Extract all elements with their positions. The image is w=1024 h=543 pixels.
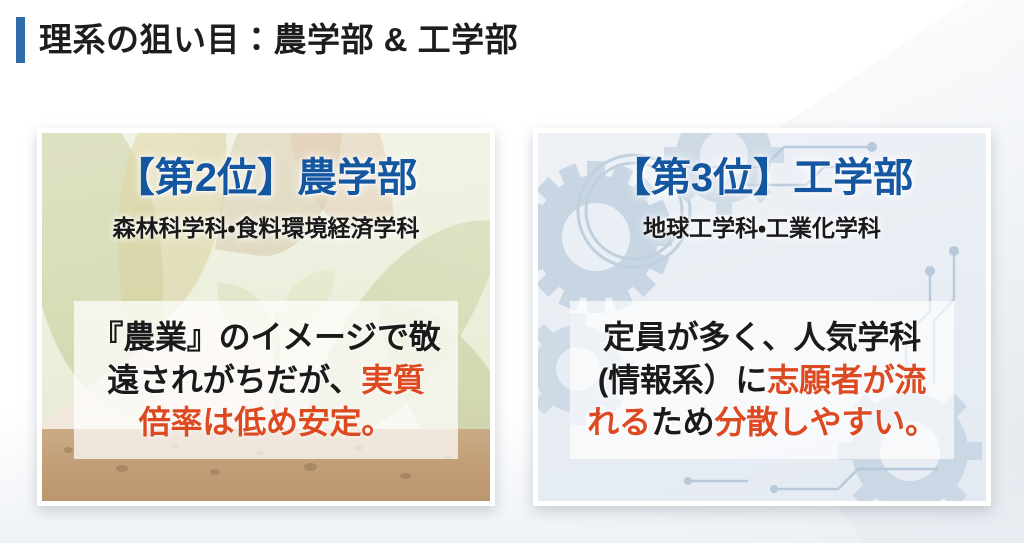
- card-rank-label: 【第2位】農学部: [42, 155, 490, 201]
- card-agriculture-body-panel: 『農業』のイメージで敬遠されがちだが、実質倍率は低め安定。: [74, 301, 458, 459]
- card-body-line: 『農業』のイメージで敬: [91, 316, 440, 359]
- slide-title: 理系の狙い目：農学部 & 工学部: [16, 14, 536, 66]
- plain-text: (情報系）に: [598, 362, 767, 398]
- card-body-line: 定員が多く、人気学科: [587, 316, 937, 359]
- card-agriculture[interactable]: 【第2位】農学部 森林科学科・食料環境経済学科 『農業』のイメージで敬遠されがち…: [37, 128, 495, 506]
- card-subtitle: 地球工学科・工業化学科: [538, 209, 986, 243]
- card-body-line: 倍率は低め安定。: [91, 401, 440, 444]
- plain-text: ため: [651, 404, 715, 440]
- slide-root: 理系の狙い目：農学部 & 工学部: [0, 0, 1024, 543]
- emphasis-text: 実質: [361, 362, 425, 398]
- emphasis-text: 分散しやすい。: [714, 404, 936, 440]
- plain-text: 『農業』のイメージで敬: [91, 319, 440, 355]
- emphasis-text: 志願者が流: [767, 362, 926, 398]
- card-body-text: 『農業』のイメージで敬遠されがちだが、実質倍率は低め安定。: [87, 316, 444, 444]
- card-body-text: 定員が多く、人気学科(情報系）に志願者が流れるため分散しやすい。: [583, 316, 941, 444]
- plain-text: 定員が多く、人気学科: [603, 319, 921, 355]
- plain-text: 遠されがちだが、: [107, 362, 361, 398]
- card-agriculture-inner: 【第2位】農学部 森林科学科・食料環境経済学科 『農業』のイメージで敬遠されがち…: [42, 133, 490, 501]
- card-body-line: (情報系）に志願者が流: [587, 359, 937, 402]
- card-subtitle: 森林科学科・食料環境経済学科: [42, 209, 490, 243]
- card-engineering[interactable]: 【第3位】工学部 地球工学科・工業化学科 定員が多く、人気学科(情報系）に志願者…: [533, 128, 991, 506]
- card-body-line: れるため分散しやすい。: [587, 401, 937, 444]
- card-body-line: 遠されがちだが、実質: [91, 359, 440, 402]
- card-engineering-body-panel: 定員が多く、人気学科(情報系）に志願者が流れるため分散しやすい。: [570, 301, 954, 459]
- cards-row: 【第2位】農学部 森林科学科・食料環境経済学科 『農業』のイメージで敬遠されがち…: [0, 128, 1024, 513]
- card-agriculture-heading: 【第2位】農学部 森林科学科・食料環境経済学科: [42, 155, 490, 243]
- card-engineering-inner: 【第3位】工学部 地球工学科・工業化学科 定員が多く、人気学科(情報系）に志願者…: [538, 133, 986, 501]
- title-text: 理系の狙い目：農学部 & 工学部: [39, 17, 536, 63]
- emphasis-text: 倍率は低め安定。: [139, 404, 393, 440]
- emphasis-text: れる: [587, 404, 651, 440]
- card-engineering-heading: 【第3位】工学部 地球工学科・工業化学科: [538, 155, 986, 243]
- title-accent-bar: [16, 17, 25, 63]
- card-rank-label: 【第3位】工学部: [538, 155, 986, 201]
